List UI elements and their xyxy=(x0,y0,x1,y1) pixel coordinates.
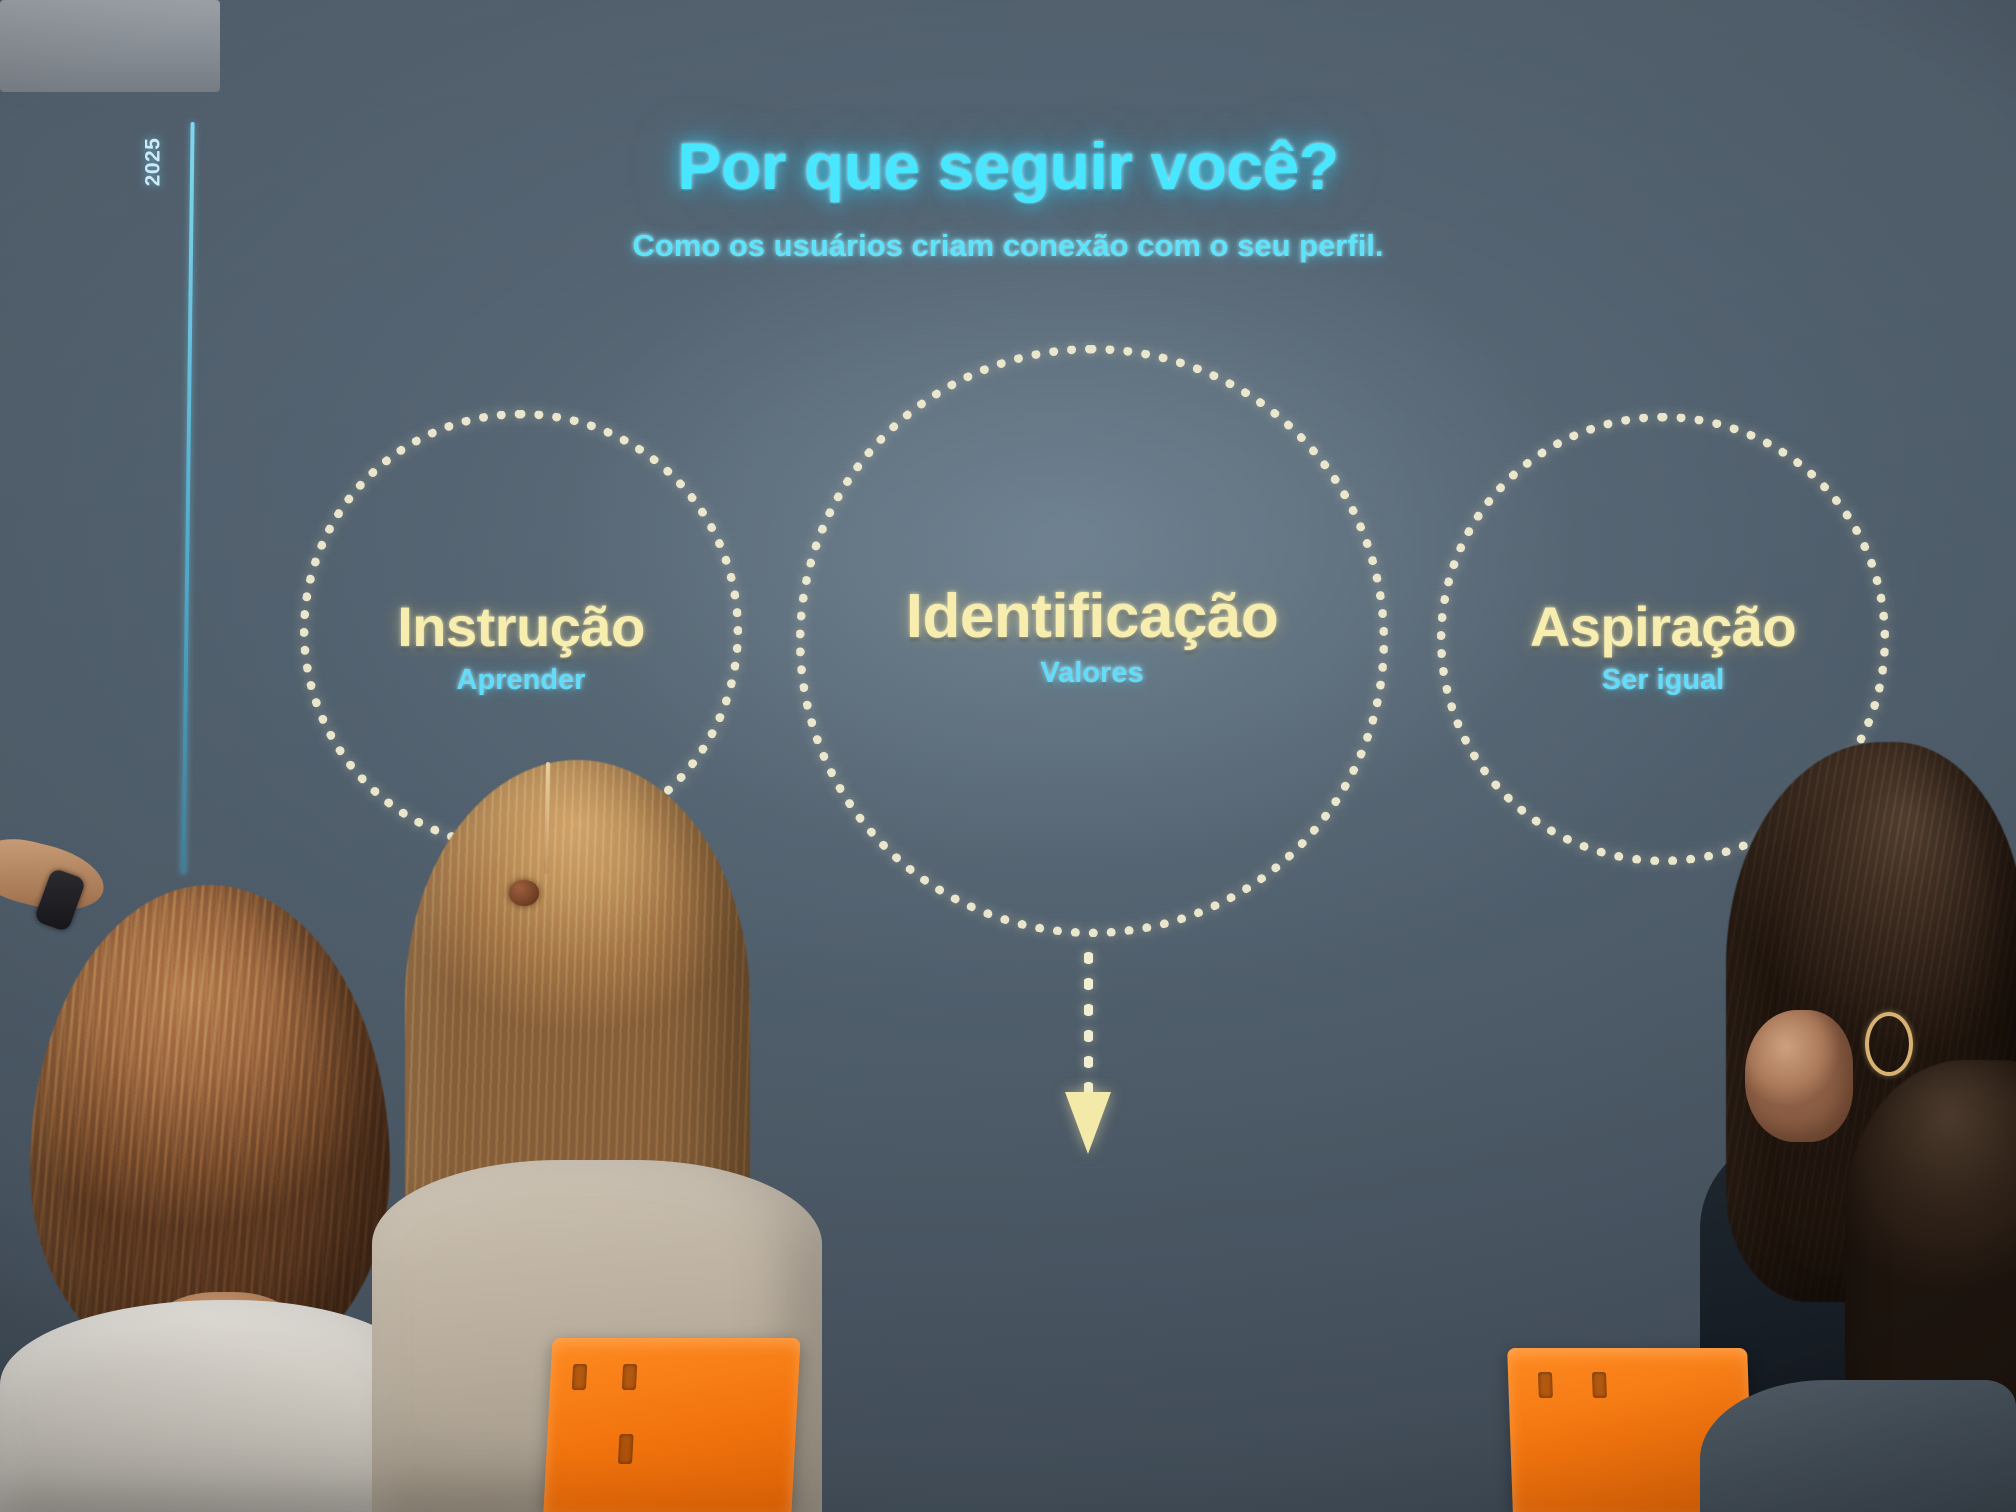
circle-label-group-instrucao: Instrução Aprender xyxy=(261,598,781,697)
circle-label-group-aspiracao: Aspiração Ser igual xyxy=(1403,598,1923,697)
chair-left-slot-1 xyxy=(572,1364,587,1390)
chair-left-slot-3 xyxy=(618,1434,634,1464)
chair-left-slot-2 xyxy=(622,1364,637,1390)
slide-title: Por que seguir você? xyxy=(0,128,2016,204)
circle-sublabel-instrucao: Aprender xyxy=(261,664,781,697)
person-left-body xyxy=(0,1300,430,1512)
chair-left xyxy=(543,1338,800,1512)
person-right-hand xyxy=(1745,1010,1853,1142)
circle-label-identificacao: Identificação xyxy=(832,585,1352,648)
person-far-right-shoulder xyxy=(1700,1380,2016,1512)
circle-sublabel-identificacao: Valores xyxy=(832,657,1352,690)
chair-right-slot-1 xyxy=(1538,1372,1553,1398)
dotted-arrow-stem-icon xyxy=(1084,945,1093,1100)
arrow-down-icon xyxy=(1065,1092,1111,1154)
chair-right-slot-2 xyxy=(1592,1372,1607,1398)
circle-sublabel-aspiracao: Ser igual xyxy=(1403,664,1923,697)
person-center-hair-tie xyxy=(509,880,539,906)
table-edge xyxy=(0,0,220,92)
circle-label-group-identificacao: Identificação Valores xyxy=(832,585,1352,690)
slide-subtitle: Como os usuários criam conexão com o seu… xyxy=(0,228,2016,264)
circle-label-instrucao: Instrução xyxy=(261,598,781,655)
hoop-earring-icon xyxy=(1865,1012,1913,1076)
circle-label-aspiracao: Aspiração xyxy=(1403,598,1923,655)
screenshot-root: 2025 Por que seguir você? Como os usuári… xyxy=(0,0,2016,1512)
